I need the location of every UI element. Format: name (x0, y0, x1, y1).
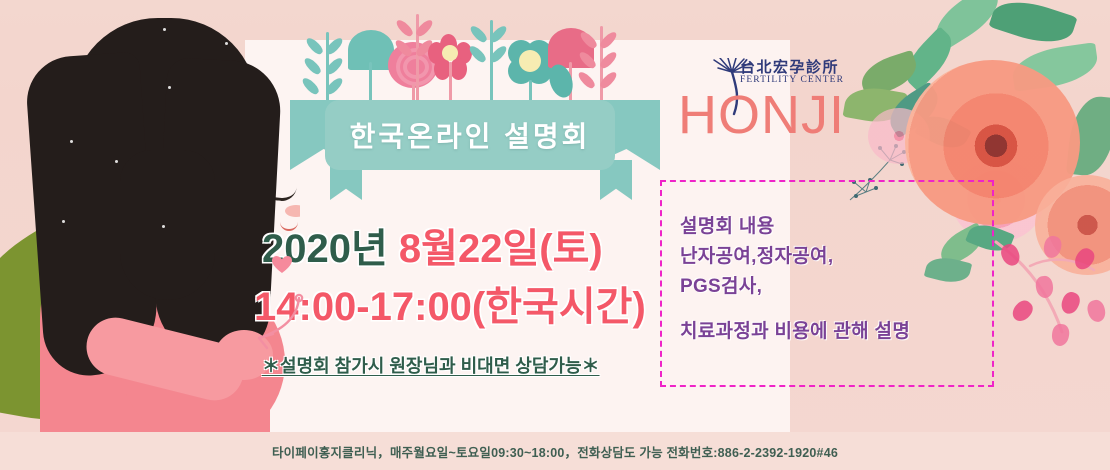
sparkle-icon (62, 220, 65, 223)
info-line: PGS검사, (680, 272, 1000, 302)
sparkle-icon (162, 225, 165, 228)
sparkle-icon (70, 140, 73, 143)
event-time: 14:00-17:00(한국시간) (254, 274, 646, 332)
info-line: 설명회 내용 (680, 212, 1000, 242)
event-date: 2020년 8월22일(토) (262, 216, 603, 274)
sparkle-icon (163, 28, 166, 31)
promo-poster: 한국온라인 설명회 2020년 8월22일(토) 14:00-17:00(한국시… (0, 0, 1110, 470)
logo-wordmark: HONJI (678, 84, 845, 146)
logo-chinese-name: 台北宏孕診所 (740, 56, 839, 77)
honji-logo: 台北宏孕診所 FERTILITY CENTER HONJI (672, 52, 847, 152)
info-line: 치료과정과 비용에 관해 설명 (680, 317, 1000, 347)
curved-arrow-doodle-icon (243, 290, 305, 352)
sparkle-icon (168, 86, 171, 89)
event-date-day: 8월22일(토) (388, 227, 603, 271)
footer-contact-text: 타이페이홍지클리닉，매주월요일~토요일09:30~18:00，전화상담도 가능 … (0, 442, 1110, 461)
sparkle-icon (115, 160, 118, 163)
pregnant-woman-illustration (0, 0, 300, 432)
consultation-note: ＊설명회 참가시 원장님과 비대면 상담가능＊ (262, 352, 600, 378)
info-line: 난자공여,정자공여, (680, 242, 1000, 272)
hair-middle (120, 150, 215, 300)
ribbon-title: 한국온라인 설명회 (350, 115, 591, 155)
ribbon-banner: 한국온라인 설명회 (325, 100, 615, 170)
sparkle-icon (225, 42, 228, 45)
heart-doodle-icon (272, 256, 292, 274)
info-box-content: 설명회 내용 난자공여,정자공여, PGS검사, 치료과정과 비용에 관해 설명 (680, 212, 1000, 347)
